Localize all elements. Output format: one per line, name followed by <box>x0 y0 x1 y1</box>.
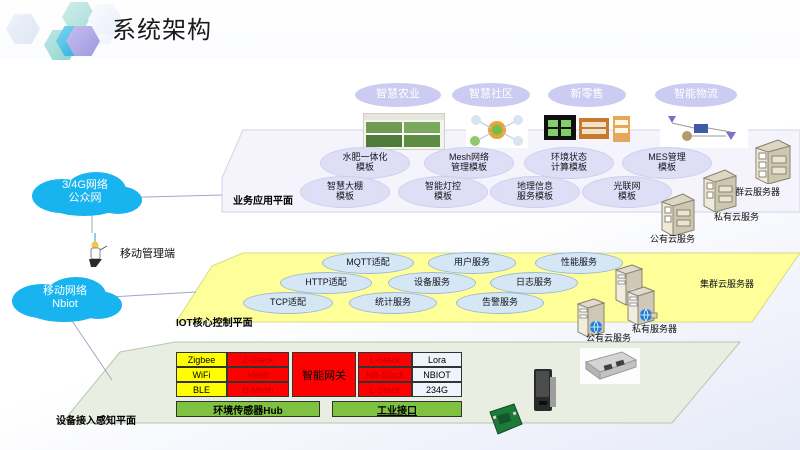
template-line1: 环境状态 <box>551 152 587 162</box>
template-smart-lighting[interactable]: 智能灯控 模板 <box>398 176 488 208</box>
stack-label: Z-Stack <box>242 355 273 365</box>
template-smart-greenhouse[interactable]: 智慧大棚 模板 <box>300 176 390 208</box>
tech-234g[interactable]: 234G <box>412 382 462 397</box>
iot-plane-label: IOT核心控制平面 <box>176 314 253 329</box>
template-line2: 模板 <box>336 191 354 201</box>
service-performance-service[interactable]: 性能服务 <box>535 252 623 274</box>
app-domain-label: 智能物流 <box>674 89 718 101</box>
template-line1: Mesh网络 <box>449 152 489 162</box>
tech-nbiot[interactable]: NBIOT <box>412 367 462 382</box>
private-cloud-service-label: 私有云服务 <box>714 210 759 223</box>
stack-l-stack-234g[interactable]: L-Stack <box>358 382 412 397</box>
template-line1: 地理信息 <box>517 181 553 191</box>
service-mqtt-adapter[interactable]: MQTT适配 <box>322 252 414 274</box>
stack-z-stack[interactable]: Z-Stack <box>227 352 289 367</box>
private-server-label: 私有服务器 <box>632 322 677 335</box>
service-label: TCP适配 <box>270 298 306 308</box>
pcb-module-photo <box>484 402 524 438</box>
template-line1: 智能灯控 <box>425 181 461 191</box>
stack-mesh[interactable]: Mesh <box>227 367 289 382</box>
app-domain-label: 智慧农业 <box>376 89 420 101</box>
stack-nb-stack[interactable]: NB-Stack <box>358 367 412 382</box>
mobile-admin-label: 移动管理端 <box>120 245 175 261</box>
service-label: 设备服务 <box>414 278 450 288</box>
template-line2: 模板 <box>356 162 374 172</box>
env-sensor-hub-bar[interactable]: 环境传感器Hub <box>176 401 320 417</box>
stack-label: L-Stack <box>370 355 401 365</box>
template-gis-service[interactable]: 地理信息 服务模板 <box>490 176 580 208</box>
service-label: 告警服务 <box>482 298 518 308</box>
service-tcp-adapter[interactable]: TCP适配 <box>243 292 333 314</box>
service-http-adapter[interactable]: HTTP适配 <box>280 272 372 294</box>
template-line1: MES管理 <box>648 152 686 162</box>
service-statistics-service[interactable]: 统计服务 <box>349 292 437 314</box>
public-cloud-service-label: 公有云服务 <box>650 232 695 245</box>
proto-label: Zigbee <box>188 355 216 365</box>
service-label: 统计服务 <box>375 298 411 308</box>
app-domain-smart-logistics[interactable]: 智能物流 <box>655 83 737 107</box>
cloud-line1: 移动网络 <box>43 285 87 297</box>
app-domain-smart-agriculture[interactable]: 智慧农业 <box>355 83 441 107</box>
app-domain-label: 智慧社区 <box>469 89 513 101</box>
slide-canvas: 系统架构 智慧农业 智慧社区 新零售 智能物流 <box>0 0 800 450</box>
proto-ble[interactable]: BLE <box>176 382 227 397</box>
stack-label: L-Stack <box>370 385 401 395</box>
cloud-mobile-nbiot: 移动网络 Nbiot <box>6 275 124 323</box>
stack-l-stack-lora[interactable]: L-Stack <box>358 352 412 367</box>
page-title: 系统架构 <box>112 10 212 45</box>
template-line2: 服务模板 <box>517 191 553 201</box>
template-water-fertilizer[interactable]: 水肥一体化 模板 <box>320 147 410 179</box>
server-rack-icon-cluster <box>752 138 792 189</box>
smart-gateway-box[interactable]: 智能网关 <box>292 352 356 397</box>
smart-gateway-label: 智能网关 <box>302 367 346 383</box>
service-user-service[interactable]: 用户服务 <box>428 252 516 274</box>
service-log-service[interactable]: 日志服务 <box>490 272 578 294</box>
proto-wifi[interactable]: WiFi <box>176 367 227 382</box>
industrial-interface-bar[interactable]: 工业接口 <box>332 401 462 417</box>
tech-label: Lora <box>428 355 446 365</box>
env-sensor-hub-label: 环境传感器Hub <box>213 402 282 417</box>
industrial-interface-label: 工业接口 <box>377 402 417 417</box>
template-line1: 智慧大棚 <box>327 181 363 191</box>
proto-label: WiFi <box>193 370 211 380</box>
template-line1: 光联网 <box>613 181 640 191</box>
silver-gateway-photo <box>580 348 640 384</box>
thumb-retail-shelves <box>544 113 632 147</box>
service-alarm-service[interactable]: 告警服务 <box>456 292 544 314</box>
public-cloud-service-2-label: 公有云服务 <box>586 331 631 344</box>
black-terminal-photo <box>532 367 558 415</box>
template-line1: 水肥一体化 <box>342 152 387 162</box>
app-domain-label: 新零售 <box>571 89 604 101</box>
app-domain-new-retail[interactable]: 新零售 <box>548 83 626 107</box>
template-line2: 模板 <box>434 191 452 201</box>
template-env-state[interactable]: 环境状态 计算模板 <box>524 147 614 179</box>
template-line2: 管理模板 <box>451 162 487 172</box>
template-mes-management[interactable]: MES管理 模板 <box>622 147 712 179</box>
service-label: HTTP适配 <box>305 278 347 288</box>
stack-label: NB-Stack <box>366 370 404 380</box>
tech-lora[interactable]: Lora <box>412 352 462 367</box>
template-line2: 模板 <box>658 162 676 172</box>
proto-label: BLE <box>193 385 210 395</box>
app-domain-smart-community[interactable]: 智慧社区 <box>452 83 530 107</box>
cluster-cloud-server-2-label: 集群云服务器 <box>700 277 754 290</box>
mobile-admin-icon <box>72 233 118 267</box>
service-label: 日志服务 <box>516 278 552 288</box>
cloud-3g4g-public-network: 3/4G网络 公众网 <box>26 170 144 216</box>
service-device-service[interactable]: 设备服务 <box>388 272 476 294</box>
service-label: 性能服务 <box>561 258 597 268</box>
tech-label: 234G <box>426 385 448 395</box>
template-line2: 模板 <box>618 191 636 201</box>
cloud-line1: 3/4G网络 <box>62 179 108 191</box>
stack-b-mesh[interactable]: B-Mesh <box>227 382 289 397</box>
stack-label: Mesh <box>247 370 269 380</box>
service-label: MQTT适配 <box>346 258 390 268</box>
thumb-greenhouse-monitor <box>363 113 445 150</box>
stack-label: B-Mesh <box>242 385 273 395</box>
service-label: 用户服务 <box>454 258 490 268</box>
thumb-community-network <box>466 112 528 148</box>
cloud-line2: Nbiot <box>52 298 78 310</box>
template-mesh-network[interactable]: Mesh网络 管理模板 <box>424 147 514 179</box>
application-plane-label: 业务应用平面 <box>233 192 293 207</box>
thumb-logistics-flow <box>660 112 748 148</box>
tech-label: NBIOT <box>423 370 451 380</box>
cloud-line2: 公众网 <box>68 192 101 204</box>
template-line2: 计算模板 <box>551 162 587 172</box>
proto-zigbee[interactable]: Zigbee <box>176 352 227 367</box>
device-plane-label: 设备接入感知平面 <box>56 412 136 427</box>
